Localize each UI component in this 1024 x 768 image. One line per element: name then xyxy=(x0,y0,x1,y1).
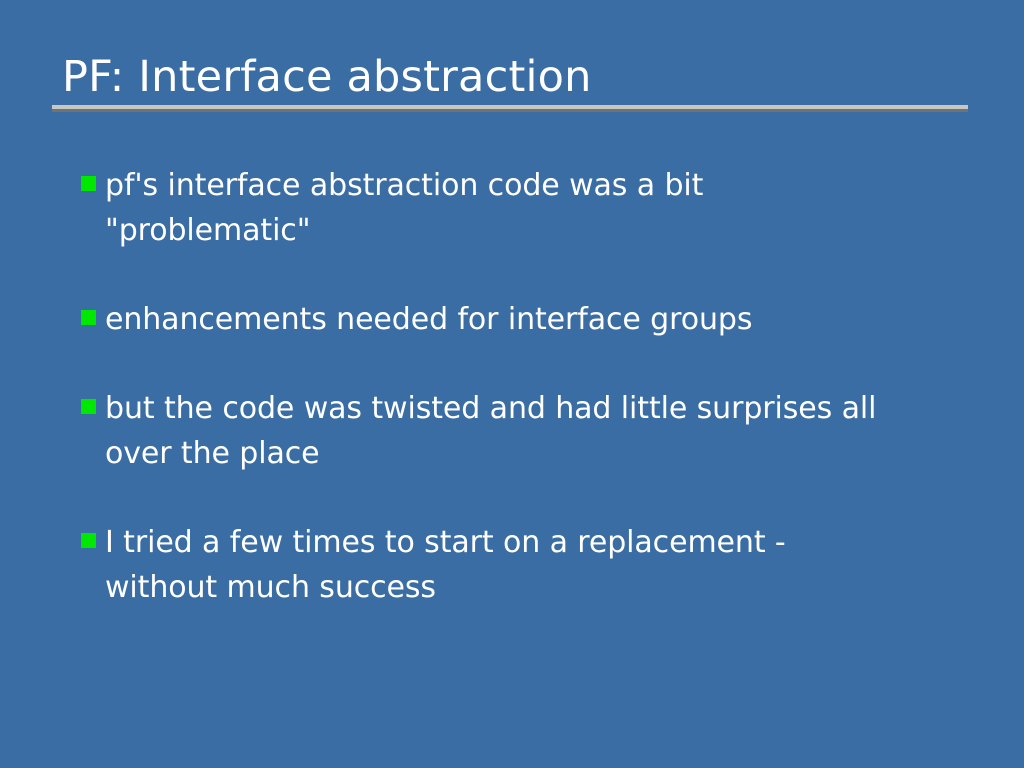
square-bullet-icon xyxy=(81,399,96,414)
presentation-slide: PF: Interface abstraction pf's interface… xyxy=(0,0,1024,768)
list-item: enhancements needed for interface groups xyxy=(81,297,981,342)
bullet-text: enhancements needed for interface groups xyxy=(105,297,965,342)
title-underline-rule xyxy=(52,105,968,109)
slide-body: pf's interface abstraction code was a bi… xyxy=(81,163,981,610)
bullet-text: but the code was twisted and had little … xyxy=(105,386,935,476)
page-title: PF: Interface abstraction xyxy=(52,52,968,102)
bullet-text: I tried a few times to start on a replac… xyxy=(105,520,850,610)
slide-title-block: PF: Interface abstraction xyxy=(52,52,968,102)
square-bullet-icon xyxy=(81,533,96,548)
square-bullet-icon xyxy=(81,176,96,191)
square-bullet-icon xyxy=(81,310,96,325)
list-item: pf's interface abstraction code was a bi… xyxy=(81,163,981,253)
list-item: but the code was twisted and had little … xyxy=(81,386,981,476)
list-item: I tried a few times to start on a replac… xyxy=(81,520,981,610)
bullet-text: pf's interface abstraction code was a bi… xyxy=(105,163,765,253)
